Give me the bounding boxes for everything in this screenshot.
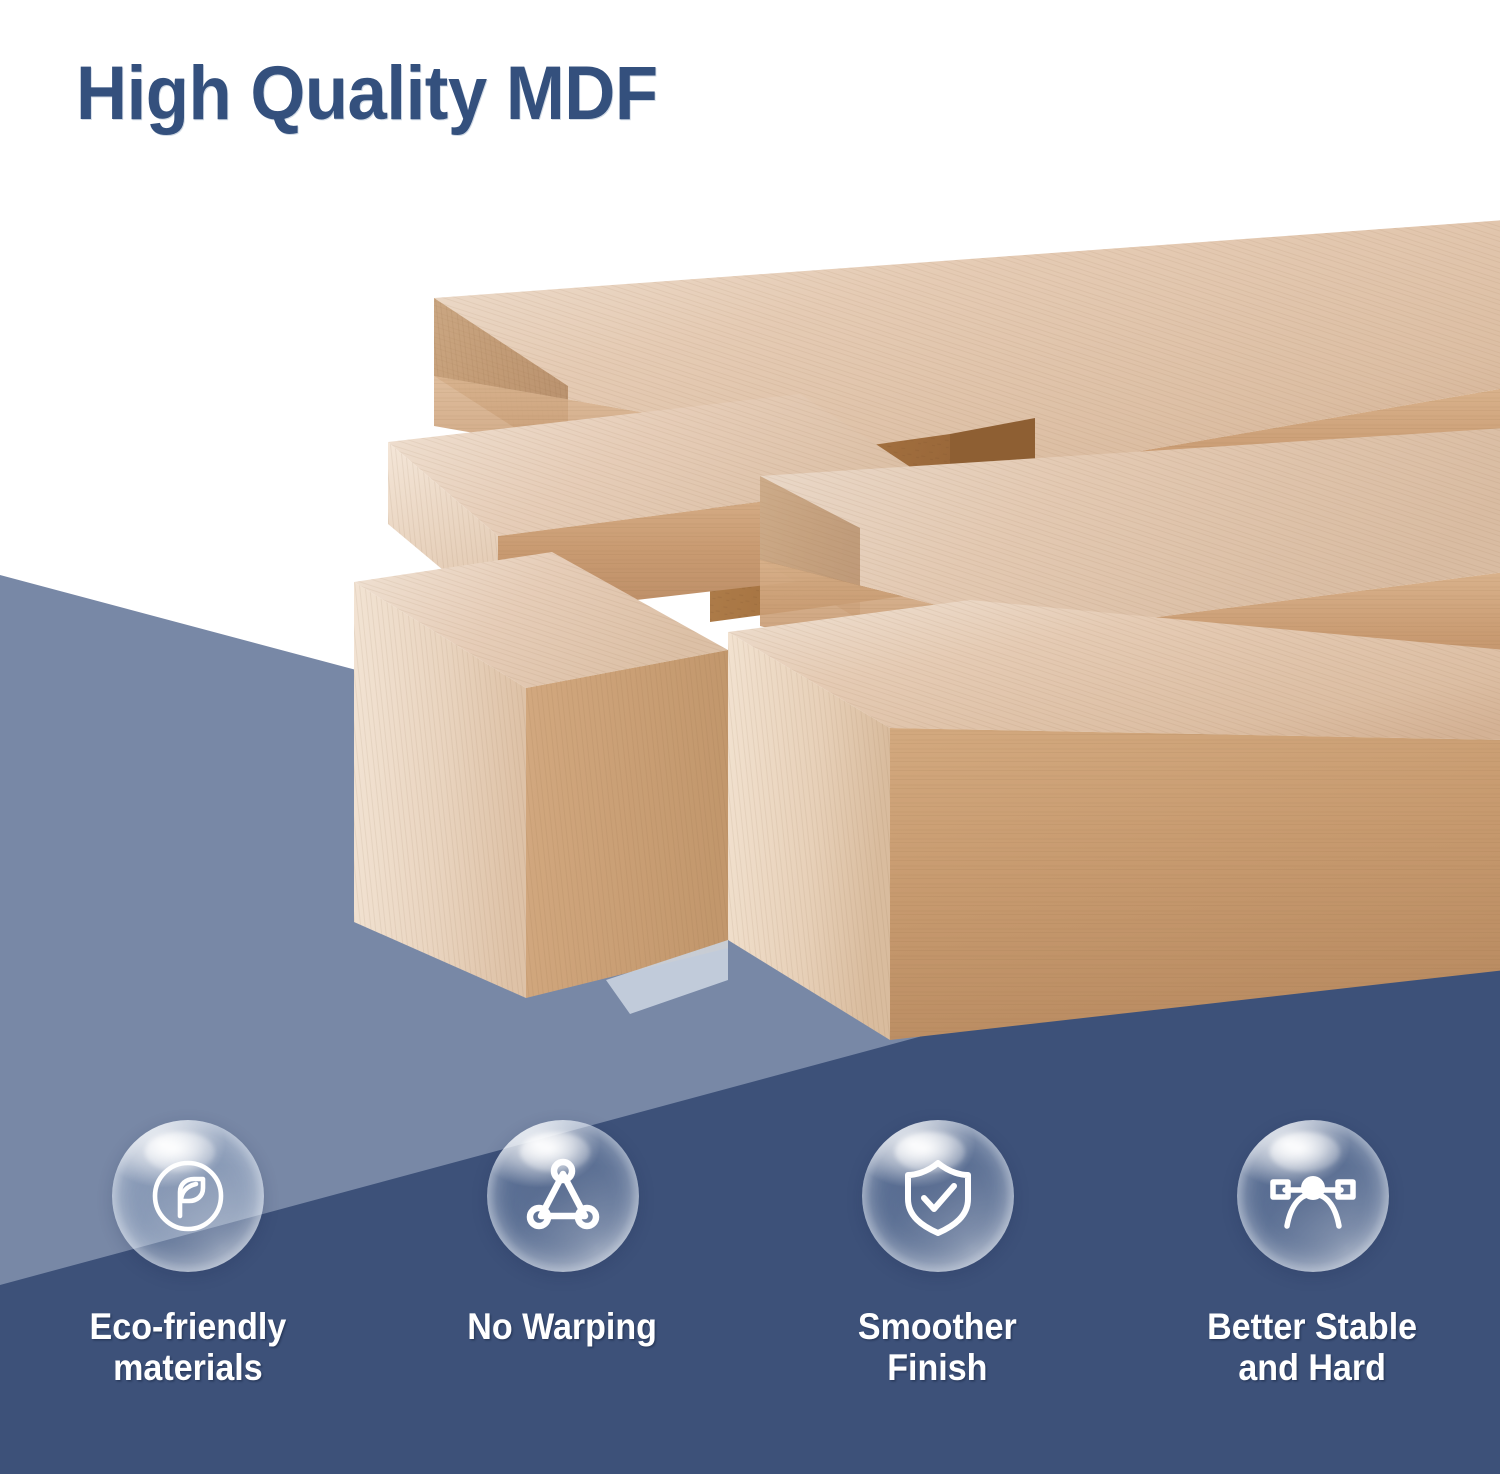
bezier-anchor-point-icon (1263, 1146, 1363, 1246)
shield-check-icon (888, 1146, 988, 1246)
feature-row: Eco-friendly materials No Warping (0, 1120, 1500, 1460)
product-feature-poster: High Quality MDF (0, 0, 1500, 1474)
page-title: High Quality MDF (76, 56, 658, 132)
wood-block-lower-right (728, 600, 1500, 1040)
wood-stack-image (330, 180, 1500, 1050)
feature-bubble (862, 1120, 1014, 1272)
feature-item-smoother-finish[interactable]: Smoother Finish (750, 1120, 1125, 1460)
triangle-nodes-icon (513, 1146, 613, 1246)
feature-item-eco-friendly[interactable]: Eco-friendly materials (0, 1120, 375, 1460)
feature-bubble (112, 1120, 264, 1272)
eco-leaf-circle-icon (138, 1146, 238, 1246)
feature-label: Better Stable and Hard (1208, 1306, 1418, 1389)
feature-item-better-stable[interactable]: Better Stable and Hard (1125, 1120, 1500, 1460)
feature-label: Smoother Finish (858, 1306, 1017, 1389)
feature-label: Eco-friendly materials (89, 1306, 286, 1389)
feature-item-no-warping[interactable]: No Warping (375, 1120, 750, 1460)
feature-label: No Warping (468, 1306, 658, 1347)
feature-bubble (487, 1120, 639, 1272)
feature-bubble (1237, 1120, 1389, 1272)
wood-block-lower-left (354, 552, 728, 998)
